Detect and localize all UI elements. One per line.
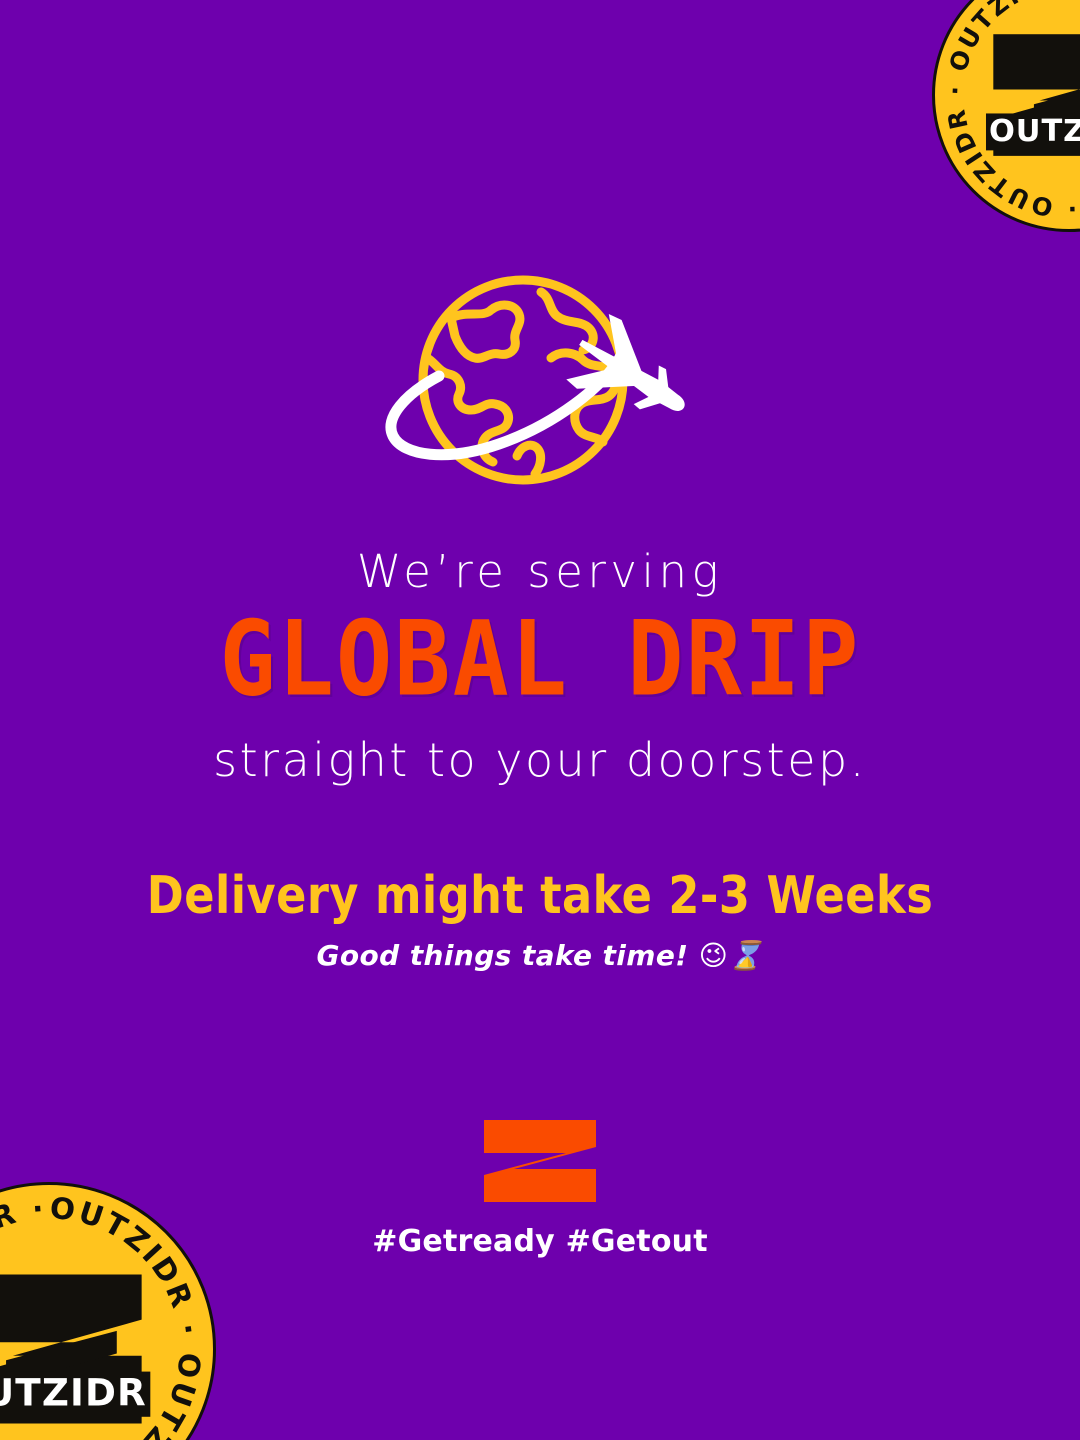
badge-sticker-top-right: OUTZIDR · OUTZIDR · OUTZIDR · OUTZIDR · … (932, 0, 1080, 232)
delivery-note-text: Good things take time! 😉⌛ (0, 941, 1080, 970)
badge-center-mark-top-right: OUTZIDR (986, 34, 1080, 156)
badge-center-wordmark-bottom-left: OUTZIDR (0, 1370, 147, 1414)
poster-canvas: We’re serving GLOBAL DRIP straight to yo… (0, 0, 1080, 1440)
badge-sticker-bottom-left: OUTZIDR · OUTZIDR · OUTZIDR · OUTZIDR · … (0, 1182, 216, 1440)
copy-block: We’re serving GLOBAL DRIP straight to yo… (0, 548, 1080, 970)
badge-center-wordmark-top-right: OUTZIDR (989, 114, 1080, 149)
subline-text: straight to your doorstep. (0, 736, 1080, 784)
hero-illustration (355, 270, 725, 510)
headline-text: GLOBAL DRIP (0, 603, 1080, 715)
delivery-notice-text: Delivery might take 2-3 Weeks (16, 868, 1064, 922)
badge-center-mark-bottom-left: OUTZIDR (0, 1274, 151, 1423)
eyebrow-text: We’re serving (0, 548, 1080, 595)
z-logo-icon (478, 1120, 602, 1202)
